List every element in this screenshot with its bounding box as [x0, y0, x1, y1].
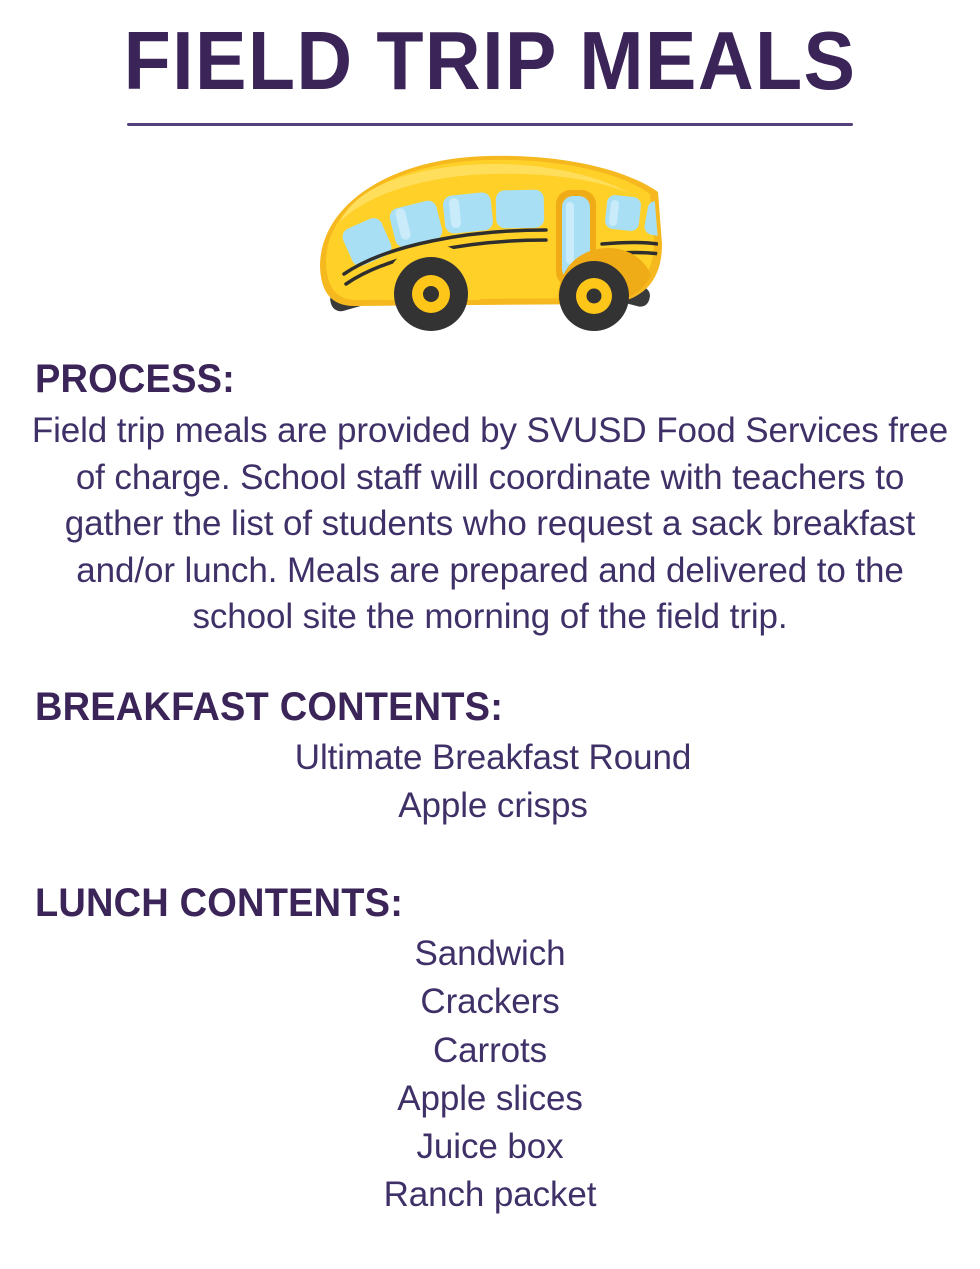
list-item: Ranch packet [0, 1171, 980, 1219]
list-item: Juice box [0, 1123, 980, 1171]
process-paragraph: Field trip meals are provided by SVUSD F… [25, 408, 955, 641]
lunch-section: LUNCH CONTENTS: Sandwich Crackers Carrot… [0, 882, 980, 1220]
list-item: Sandwich [0, 930, 980, 978]
field-trip-meals-poster: FIELD TRIP MEALS [0, 0, 980, 1269]
bus-front-window-1 [604, 194, 641, 231]
school-bus-icon [310, 148, 670, 340]
lunch-heading: LUNCH CONTENTS: [35, 882, 933, 924]
list-item: Apple crisps [0, 782, 980, 830]
poster-header: FIELD TRIP MEALS [0, 22, 980, 126]
page-title: FIELD TRIP MEALS [34, 22, 945, 101]
breakfast-heading: BREAKFAST CONTENTS: [35, 686, 933, 728]
bus-front-wheel [559, 261, 629, 331]
breakfast-section: BREAKFAST CONTENTS: Ultimate Breakfast R… [0, 686, 980, 831]
breakfast-item-list: Ultimate Breakfast Round Apple crisps [0, 734, 980, 831]
list-item: Ultimate Breakfast Round [0, 734, 980, 782]
list-item: Carrots [0, 1027, 980, 1075]
list-item: Apple slices [0, 1075, 980, 1123]
lunch-item-list: Sandwich Crackers Carrots Apple slices J… [0, 930, 980, 1220]
list-item: Crackers [0, 978, 980, 1026]
school-bus-illustration [0, 144, 980, 344]
process-heading: PROCESS: [35, 358, 933, 400]
bus-door-window-highlight [566, 202, 574, 264]
process-section: PROCESS: Field trip meals are provided b… [0, 358, 980, 641]
bus-rear-wheel [394, 257, 468, 331]
title-divider [127, 123, 853, 126]
